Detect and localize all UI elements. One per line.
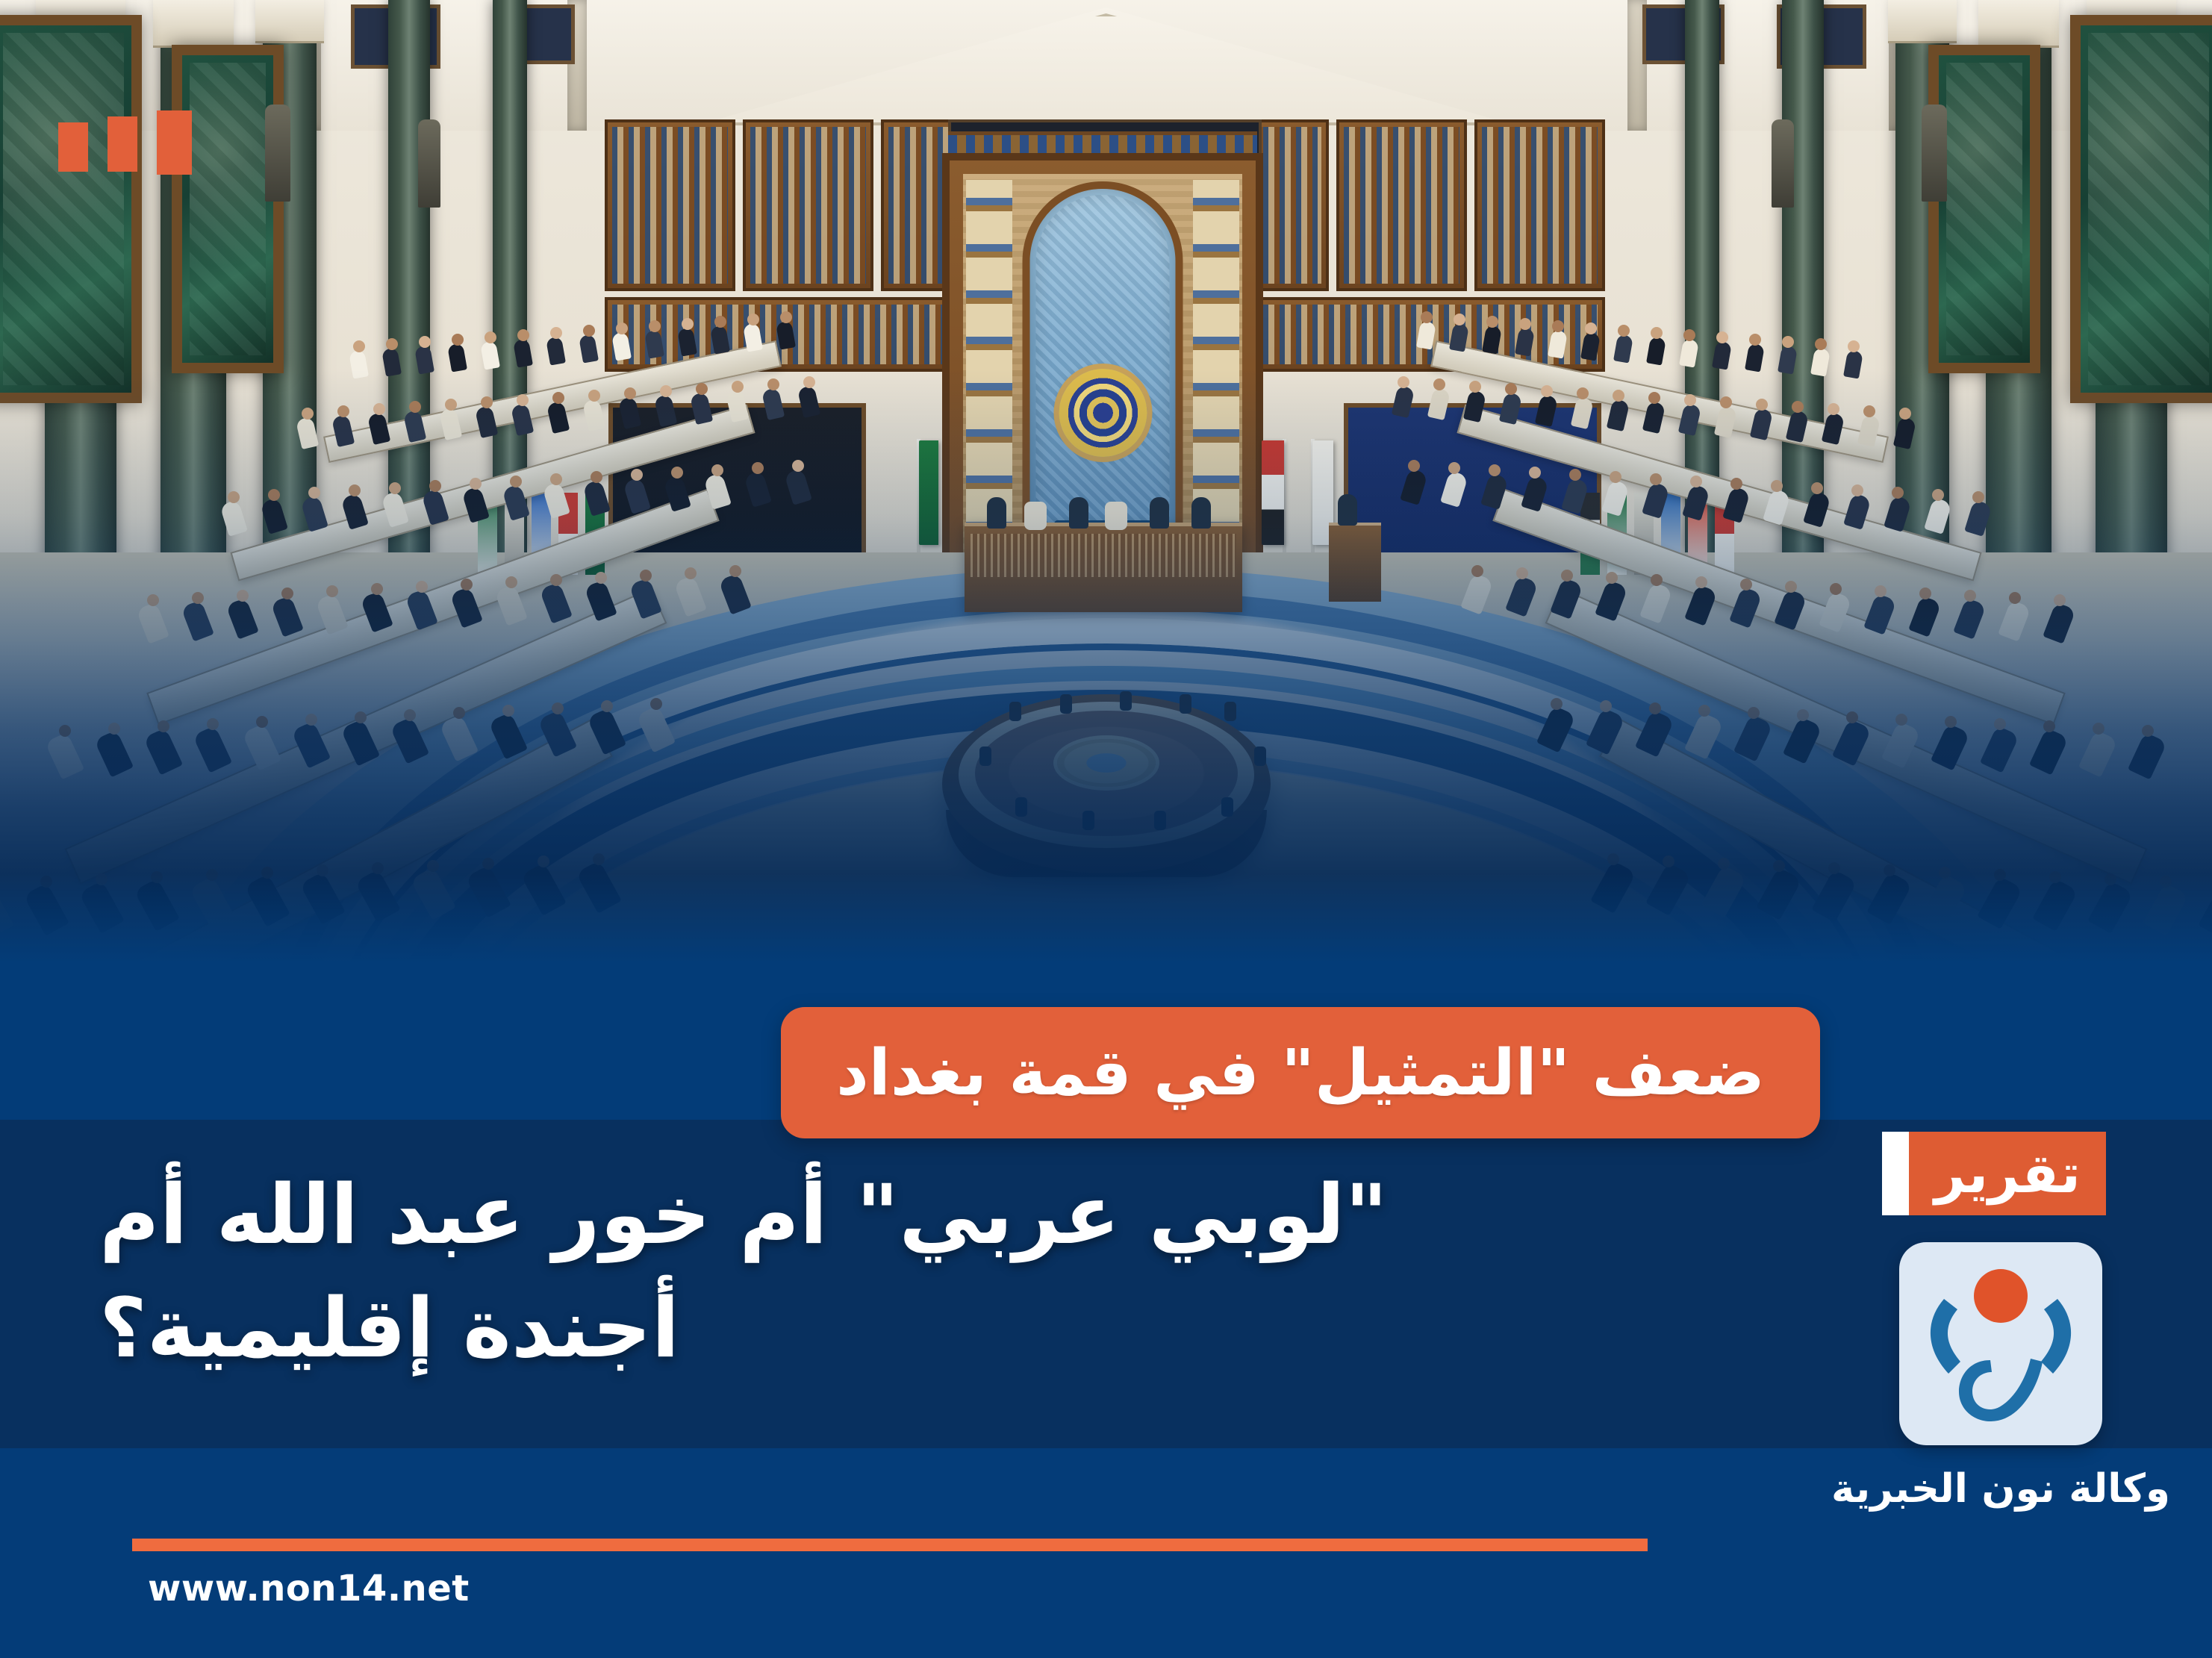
delegate-head bbox=[1939, 867, 1951, 879]
delegate-head bbox=[747, 314, 759, 325]
delegate-head bbox=[482, 858, 494, 870]
delegate-head bbox=[461, 579, 473, 590]
delegate-head bbox=[685, 567, 697, 579]
delegate-head bbox=[1569, 469, 1581, 481]
delegate-head bbox=[631, 469, 643, 481]
delegate-head bbox=[682, 318, 694, 330]
delegate-head bbox=[404, 709, 416, 721]
summit-hall-photo bbox=[0, 0, 2212, 1120]
delegate-head bbox=[1848, 340, 1860, 352]
column-capital bbox=[153, 0, 234, 48]
delegate-head bbox=[1448, 462, 1460, 474]
delegate-head bbox=[1740, 579, 1752, 590]
delegate-head bbox=[1875, 585, 1887, 597]
delegate-head bbox=[1797, 709, 1809, 721]
delegate-head bbox=[1519, 318, 1531, 330]
delegate-head bbox=[326, 585, 338, 597]
delegate-head bbox=[371, 583, 383, 595]
stage-delegate bbox=[1150, 497, 1169, 529]
delegate-head bbox=[1561, 570, 1573, 582]
table-microphone bbox=[1120, 691, 1132, 711]
delegate-head bbox=[1698, 705, 1710, 717]
delegate-head bbox=[308, 487, 320, 499]
delegate-head bbox=[1846, 711, 1858, 723]
wall-mural bbox=[0, 15, 142, 403]
delegate-head bbox=[158, 720, 169, 732]
delegate-head bbox=[1785, 581, 1797, 593]
delegate-head bbox=[1892, 487, 1904, 499]
head-table bbox=[965, 523, 1242, 612]
delegate-head bbox=[1972, 491, 1984, 503]
delegate-head bbox=[1690, 476, 1702, 487]
delegate-head bbox=[481, 396, 493, 408]
delegate-head bbox=[1610, 471, 1621, 483]
headline-line-1: "لوبي عربي" أم خور عبد الله أم bbox=[99, 1159, 1824, 1272]
delegate-head bbox=[583, 325, 595, 337]
delegate-head bbox=[588, 390, 600, 402]
delegate-head bbox=[1932, 489, 1944, 501]
delegate-head bbox=[660, 385, 672, 397]
delegate-head bbox=[714, 316, 726, 328]
delegate-head bbox=[552, 702, 564, 714]
delegate-head bbox=[2142, 725, 2154, 737]
table-microphone bbox=[1154, 811, 1166, 830]
delegate-head bbox=[729, 565, 741, 577]
delegate-head bbox=[1899, 408, 1911, 420]
delegate-head bbox=[1994, 869, 2006, 881]
delegate-head bbox=[792, 460, 804, 472]
delegate-head bbox=[1830, 583, 1842, 595]
delegate-head bbox=[1863, 405, 1875, 417]
table-microphone bbox=[1180, 694, 1191, 714]
delegate-head bbox=[696, 383, 708, 395]
delegate-head bbox=[1529, 467, 1541, 479]
mashrabiya-balcony bbox=[605, 119, 735, 291]
delegate-head bbox=[1648, 392, 1660, 404]
table-microphone bbox=[1221, 797, 1233, 817]
delegate-head bbox=[780, 311, 792, 323]
delegate-head bbox=[373, 403, 385, 415]
footer-divider bbox=[132, 1539, 1648, 1551]
delegate-head bbox=[485, 331, 496, 343]
noon-agency-logo bbox=[1899, 1242, 2102, 1445]
delegate-head bbox=[1606, 572, 1618, 584]
report-badge-accent-bar bbox=[1882, 1132, 1909, 1215]
delegate-head bbox=[1469, 381, 1481, 393]
delegate-head bbox=[616, 322, 628, 334]
delegate-head bbox=[2009, 592, 2021, 604]
table-center-medallion bbox=[1057, 739, 1156, 787]
delegate-head bbox=[1828, 862, 1840, 874]
logo-loop-icon bbox=[1956, 1356, 2046, 1424]
table-microphone bbox=[1009, 702, 1021, 721]
table-microphone bbox=[1224, 702, 1236, 721]
report-badge-body: تقرير bbox=[1909, 1132, 2106, 1215]
delegate-head bbox=[147, 594, 159, 606]
table-microphone bbox=[1254, 747, 1266, 766]
delegate-head bbox=[1408, 460, 1420, 472]
stage-delegate bbox=[1069, 497, 1088, 529]
delegate-head bbox=[349, 484, 361, 496]
delegate-head bbox=[1716, 331, 1728, 343]
headline-line-2: أجندة إقليمية؟ bbox=[99, 1272, 1824, 1386]
wall-statue bbox=[1772, 119, 1794, 208]
delegate-head bbox=[1433, 378, 1445, 390]
mark-bar-3 bbox=[58, 122, 88, 172]
delegate-head bbox=[1994, 718, 2006, 730]
podium-speaker bbox=[1338, 494, 1357, 526]
delegate-head bbox=[640, 570, 652, 582]
speaker-podium bbox=[1329, 523, 1381, 602]
delegate-head bbox=[2160, 876, 2172, 888]
delegate-head bbox=[386, 338, 398, 350]
mark-bar-2 bbox=[108, 116, 137, 172]
delegate-head bbox=[337, 405, 349, 417]
report-badge-label: تقرير bbox=[1934, 1147, 2080, 1200]
headline: "لوبي عربي" أم خور عبد الله أم أجندة إقل… bbox=[99, 1159, 1824, 1386]
delegate-head bbox=[207, 718, 219, 730]
delegate-head bbox=[2104, 873, 2116, 885]
delegate-head bbox=[108, 723, 120, 735]
column-capital bbox=[1978, 0, 2059, 48]
delegate-head bbox=[470, 478, 482, 490]
delegate-head bbox=[151, 871, 163, 883]
delegate-head bbox=[1884, 864, 1895, 876]
delegate-head bbox=[389, 482, 401, 494]
delegate-head bbox=[40, 876, 52, 888]
delegate-head bbox=[409, 401, 421, 413]
delegate-head bbox=[317, 864, 328, 876]
delegate-head bbox=[1649, 702, 1661, 714]
three-bars-mark bbox=[58, 110, 192, 175]
delegate-head bbox=[505, 576, 517, 588]
delegate-head bbox=[2093, 723, 2104, 735]
delegate-head bbox=[1663, 856, 1674, 867]
arab-league-flag bbox=[919, 440, 938, 545]
delegate-head bbox=[302, 408, 314, 420]
delegate-head bbox=[372, 862, 384, 874]
delegate-head bbox=[552, 392, 564, 404]
delegate-head bbox=[1771, 480, 1783, 492]
delegate-head bbox=[1684, 394, 1696, 406]
delegate-head bbox=[550, 327, 562, 339]
delegate-head bbox=[767, 378, 779, 390]
delegate-head bbox=[96, 873, 108, 885]
delegate-head bbox=[671, 467, 683, 479]
news-card: ضعف "التمثيل" في قمة بغداد "لوبي عربي" أ… bbox=[0, 0, 2212, 1658]
delegate-head bbox=[1773, 860, 1785, 872]
delegate-head bbox=[593, 853, 605, 865]
delegate-head bbox=[624, 387, 636, 399]
delegate-head bbox=[732, 381, 744, 393]
delegate-head bbox=[305, 714, 317, 726]
delegate-head bbox=[1815, 338, 1827, 350]
delegate-head bbox=[1421, 311, 1433, 323]
delegate-head bbox=[192, 592, 204, 604]
delegate-head bbox=[550, 574, 562, 586]
delegate-head bbox=[591, 471, 602, 483]
delegate-head bbox=[427, 860, 439, 872]
mashrabiya-balcony bbox=[1336, 119, 1467, 291]
wall-statue bbox=[265, 105, 290, 202]
delegate-head bbox=[1489, 464, 1501, 476]
delegate-head bbox=[1471, 565, 1483, 577]
delegate-head bbox=[1964, 590, 1976, 602]
delegate-head bbox=[1585, 322, 1597, 334]
site-url: www.non14.net bbox=[148, 1568, 470, 1609]
delegate-head bbox=[1851, 484, 1863, 496]
wall-mural bbox=[2070, 15, 2212, 403]
report-badge: تقرير bbox=[1882, 1132, 2106, 1215]
delegate-head bbox=[1895, 714, 1907, 726]
delegate-head bbox=[1782, 336, 1794, 348]
delegate-head bbox=[1695, 576, 1707, 588]
delegate-head bbox=[1541, 385, 1553, 397]
delegate-head bbox=[419, 336, 431, 348]
delegate-head bbox=[1613, 390, 1624, 402]
mark-bar-1 bbox=[157, 110, 192, 175]
delegate-head bbox=[453, 707, 465, 719]
delegate-head bbox=[1792, 401, 1804, 413]
delegate-head bbox=[206, 869, 218, 881]
column-capital bbox=[1888, 0, 1957, 43]
delegate-head bbox=[1730, 478, 1742, 490]
delegate-head bbox=[445, 399, 457, 411]
kicker-text: ضعف "التمثيل" في قمة بغداد bbox=[836, 1041, 1765, 1105]
delegate-head bbox=[281, 588, 293, 599]
stage-chair bbox=[1105, 502, 1127, 530]
delegate-head bbox=[1919, 588, 1931, 599]
delegate-head bbox=[1683, 329, 1695, 341]
delegate-head bbox=[1945, 716, 1957, 728]
stage-delegate bbox=[987, 497, 1006, 529]
table-microphone bbox=[1060, 694, 1072, 714]
delegate-head bbox=[517, 394, 529, 406]
delegate-head bbox=[1398, 376, 1409, 388]
delegate-head bbox=[1651, 327, 1663, 339]
arab-league-emblem bbox=[1059, 369, 1147, 457]
delegate-head bbox=[237, 590, 249, 602]
delegate-head bbox=[2049, 871, 2061, 883]
wall-statue bbox=[1922, 105, 1947, 202]
delegate-head bbox=[1516, 567, 1528, 579]
delegate-head bbox=[711, 464, 723, 476]
table-microphone bbox=[1082, 811, 1094, 830]
agency-name: وكالة نون الخبرية bbox=[1792, 1468, 2210, 1511]
delegate-head bbox=[650, 698, 662, 710]
delegate-head bbox=[752, 462, 764, 474]
delegate-head bbox=[261, 867, 273, 879]
table-microphone bbox=[1015, 797, 1027, 817]
delegate-head bbox=[1486, 316, 1498, 328]
delegate-head bbox=[1551, 698, 1563, 710]
wall-statue bbox=[418, 119, 440, 208]
delegate-head bbox=[228, 491, 240, 503]
delegate-head bbox=[1651, 574, 1663, 586]
wall-mural bbox=[1928, 45, 2040, 373]
delegate-head bbox=[538, 856, 549, 867]
delegate-head bbox=[649, 320, 661, 332]
delegate-head bbox=[1650, 473, 1662, 485]
delegate-head bbox=[502, 705, 514, 717]
delegate-head bbox=[517, 329, 529, 341]
delegate-head bbox=[268, 489, 280, 501]
delegate-head bbox=[1454, 314, 1465, 325]
column-capital bbox=[255, 0, 324, 43]
delegate-head bbox=[1748, 707, 1760, 719]
delegate-head bbox=[1577, 387, 1589, 399]
delegate-head bbox=[355, 711, 367, 723]
stage-chair bbox=[1024, 502, 1047, 530]
iraq-flag bbox=[1262, 440, 1284, 545]
delegate-head bbox=[1505, 383, 1517, 395]
wall-mural bbox=[172, 45, 284, 373]
delegate-head bbox=[59, 725, 71, 737]
delegate-head bbox=[429, 480, 441, 492]
delegate-head bbox=[1600, 700, 1612, 712]
delegate-head bbox=[1749, 334, 1761, 346]
delegate-head bbox=[1607, 853, 1619, 865]
delegate-head bbox=[803, 376, 815, 388]
delegate-head bbox=[601, 700, 613, 712]
delegate-head bbox=[1720, 396, 1732, 408]
delegate-head bbox=[1828, 403, 1839, 415]
delegate-head bbox=[1811, 482, 1823, 494]
delegate-head bbox=[256, 716, 268, 728]
mashrabiya-balcony bbox=[1474, 119, 1605, 291]
kicker-banner: ضعف "التمثيل" في قمة بغداد bbox=[781, 1007, 1820, 1138]
delegate-head bbox=[416, 581, 428, 593]
delegate-head bbox=[595, 572, 607, 584]
delegate-head bbox=[353, 340, 365, 352]
delegate-head bbox=[1618, 325, 1630, 337]
delegate-head bbox=[550, 473, 562, 485]
stage-delegate bbox=[1191, 497, 1211, 529]
table-microphone bbox=[979, 747, 991, 766]
delegate-head bbox=[452, 334, 464, 346]
delegate-head bbox=[1552, 320, 1564, 332]
delegate-head bbox=[1756, 399, 1768, 411]
delegate-head bbox=[1718, 858, 1730, 870]
delegate-head bbox=[2043, 720, 2055, 732]
mashrabiya-balcony bbox=[743, 119, 873, 291]
delegate-head bbox=[2054, 594, 2066, 606]
delegate-head bbox=[510, 476, 522, 487]
